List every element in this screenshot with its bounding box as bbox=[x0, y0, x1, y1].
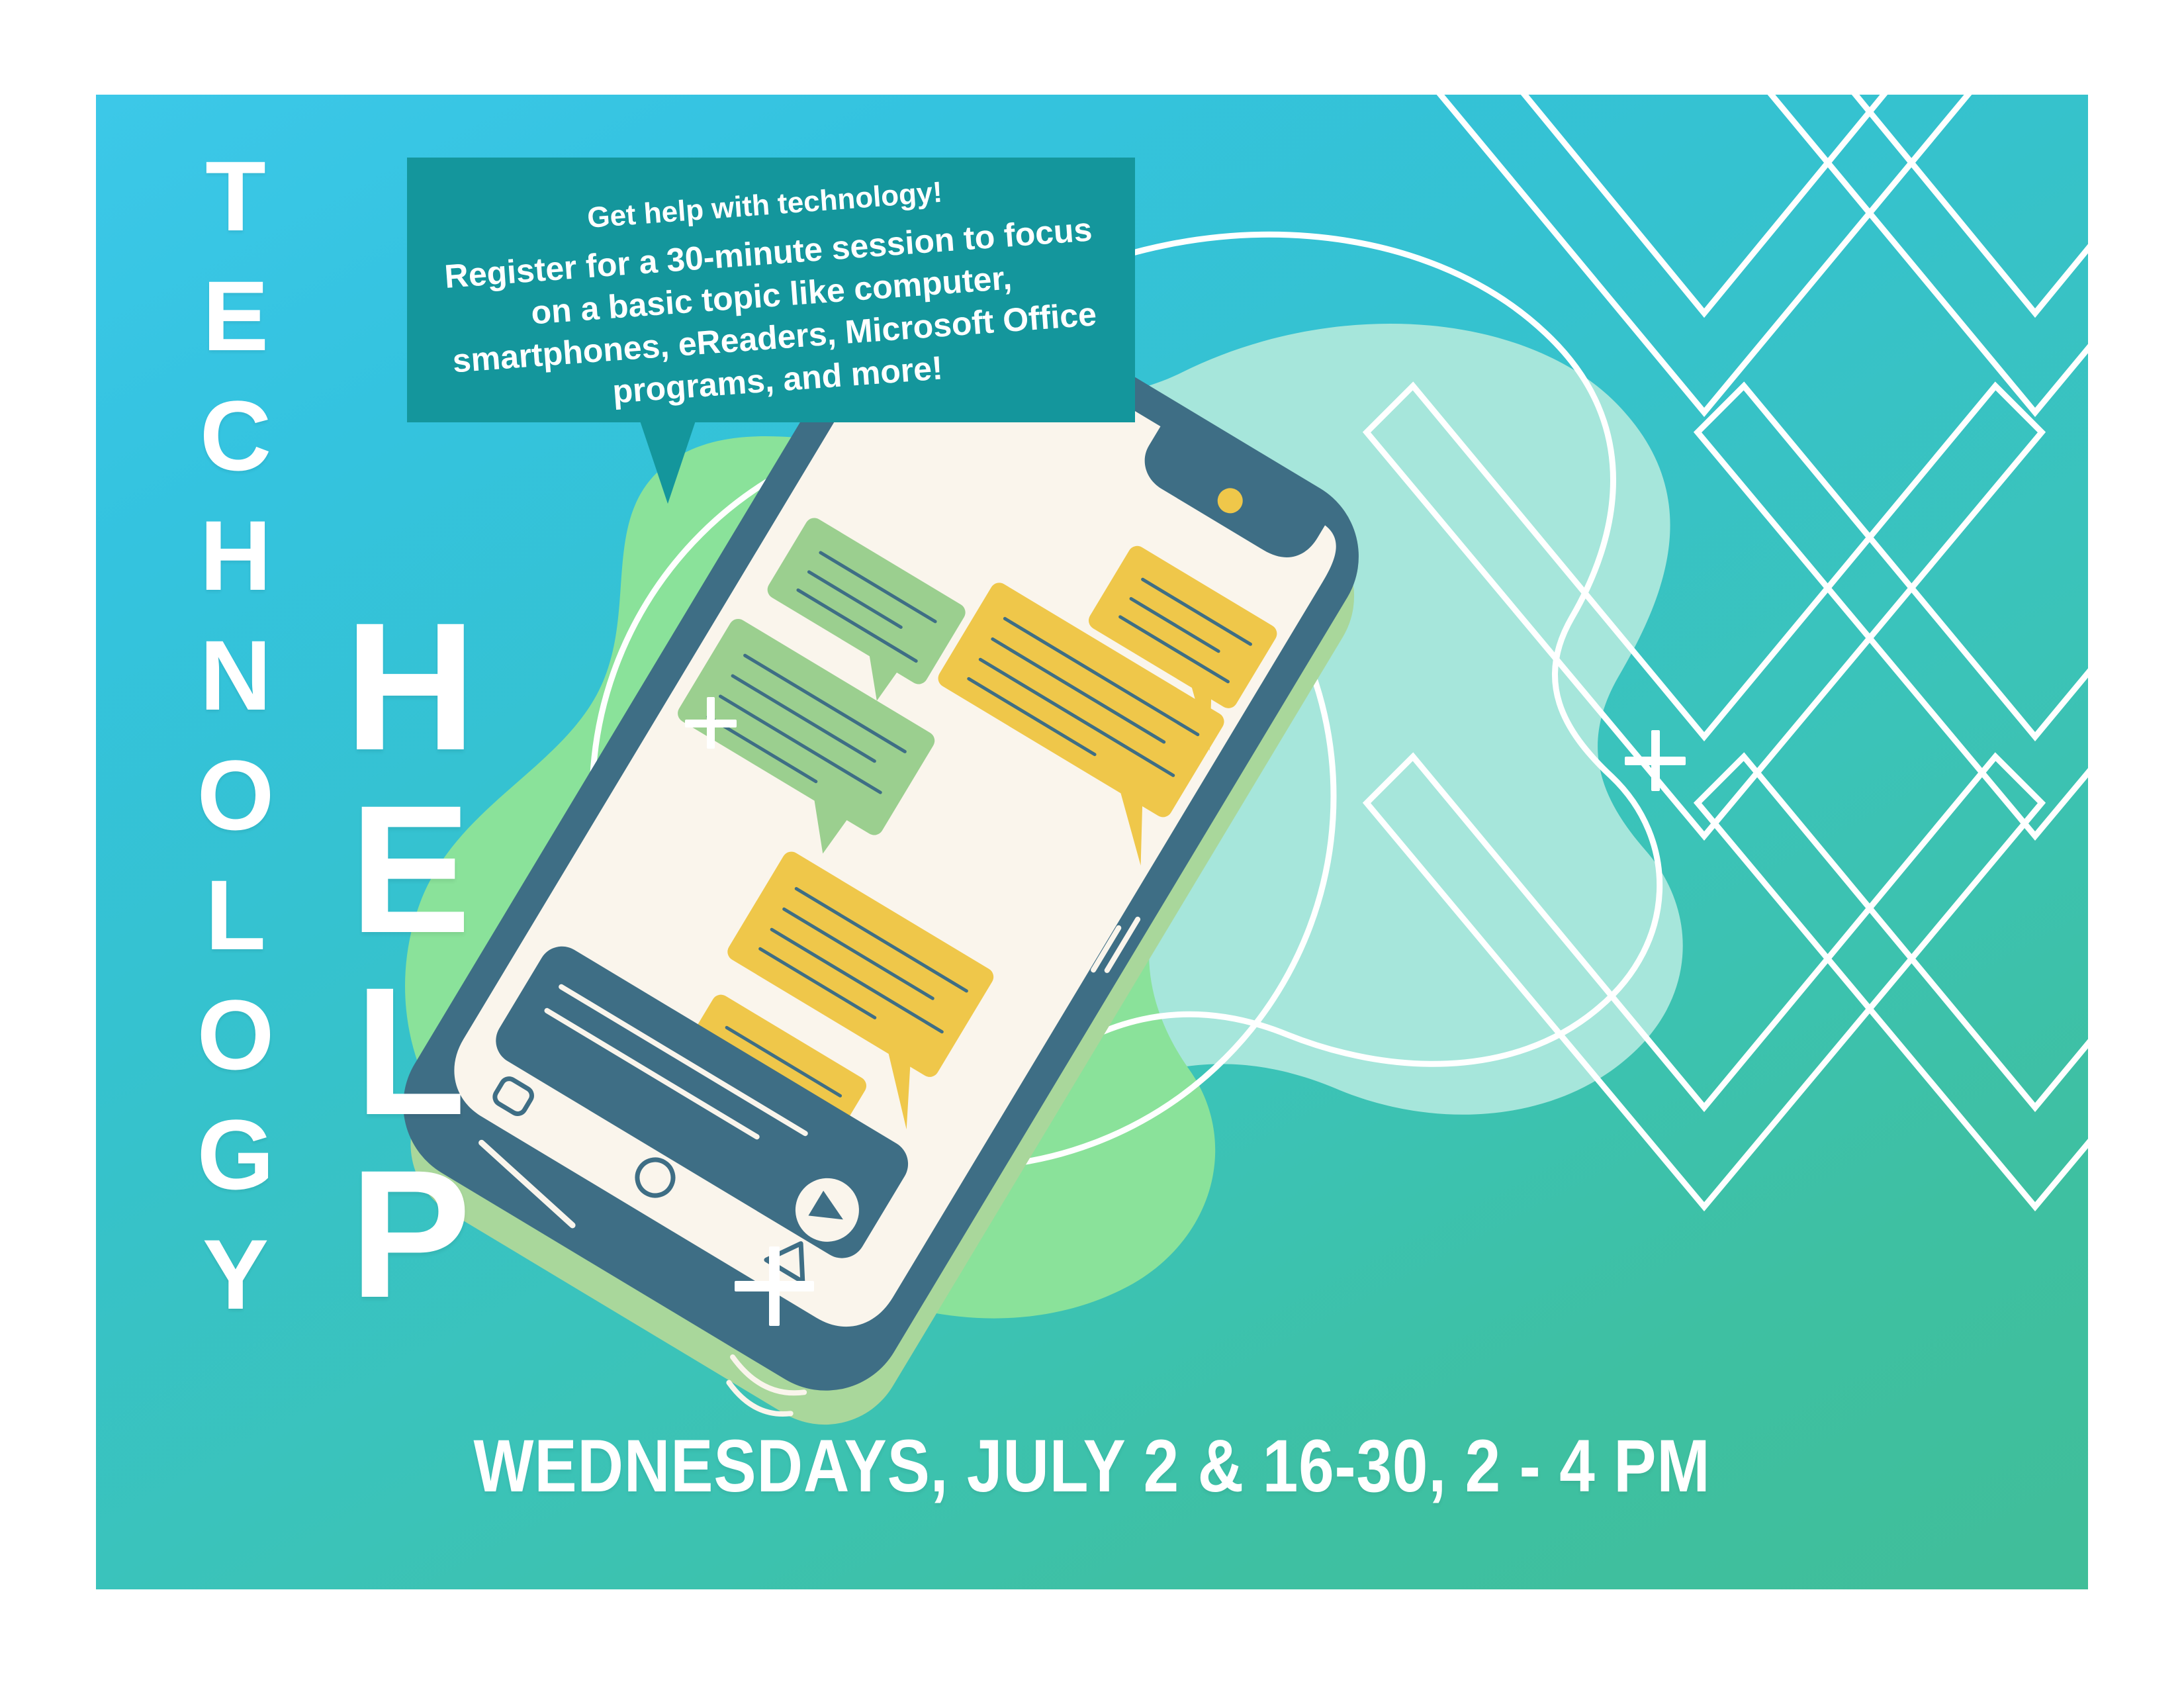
schedule-text: WEDNESDAYS, JULY 2 & 16-30, 2 - 4 PM bbox=[236, 1423, 1949, 1509]
speech-bubble-body-text: Register for a 30-minute session to focu… bbox=[430, 207, 1116, 426]
title-letter: H bbox=[200, 507, 271, 604]
title-letter: Y bbox=[203, 1226, 269, 1323]
plus-icon bbox=[735, 1246, 814, 1326]
poster-canvas: T E C H N O L O G Y H E L P Get help wit… bbox=[96, 95, 2088, 1589]
title-letter: G bbox=[197, 1106, 275, 1203]
title-help: H E L P bbox=[301, 612, 520, 1342]
title-letter: O bbox=[197, 747, 275, 844]
title-letter: O bbox=[197, 986, 275, 1084]
title-letter: L bbox=[355, 977, 466, 1127]
plus-icon bbox=[685, 697, 737, 749]
speech-bubble: Get help with technology! Register for a… bbox=[407, 158, 1135, 422]
title-letter: L bbox=[205, 867, 266, 964]
title-letter: P bbox=[349, 1160, 471, 1309]
title-letter: T bbox=[205, 148, 266, 245]
chevron-icon bbox=[1744, 95, 2088, 412]
speech-bubble-text: Get help with technology! Register for a… bbox=[398, 131, 1144, 448]
plus-icon bbox=[1625, 730, 1686, 791]
title-letter: E bbox=[203, 267, 269, 365]
title-technology: T E C H N O L O G Y bbox=[159, 148, 312, 1346]
title-letter: E bbox=[349, 795, 471, 945]
title-letter: N bbox=[200, 627, 271, 724]
title-letter: C bbox=[200, 387, 271, 485]
speech-bubble-tail bbox=[640, 421, 696, 504]
title-letter: H bbox=[345, 612, 477, 762]
